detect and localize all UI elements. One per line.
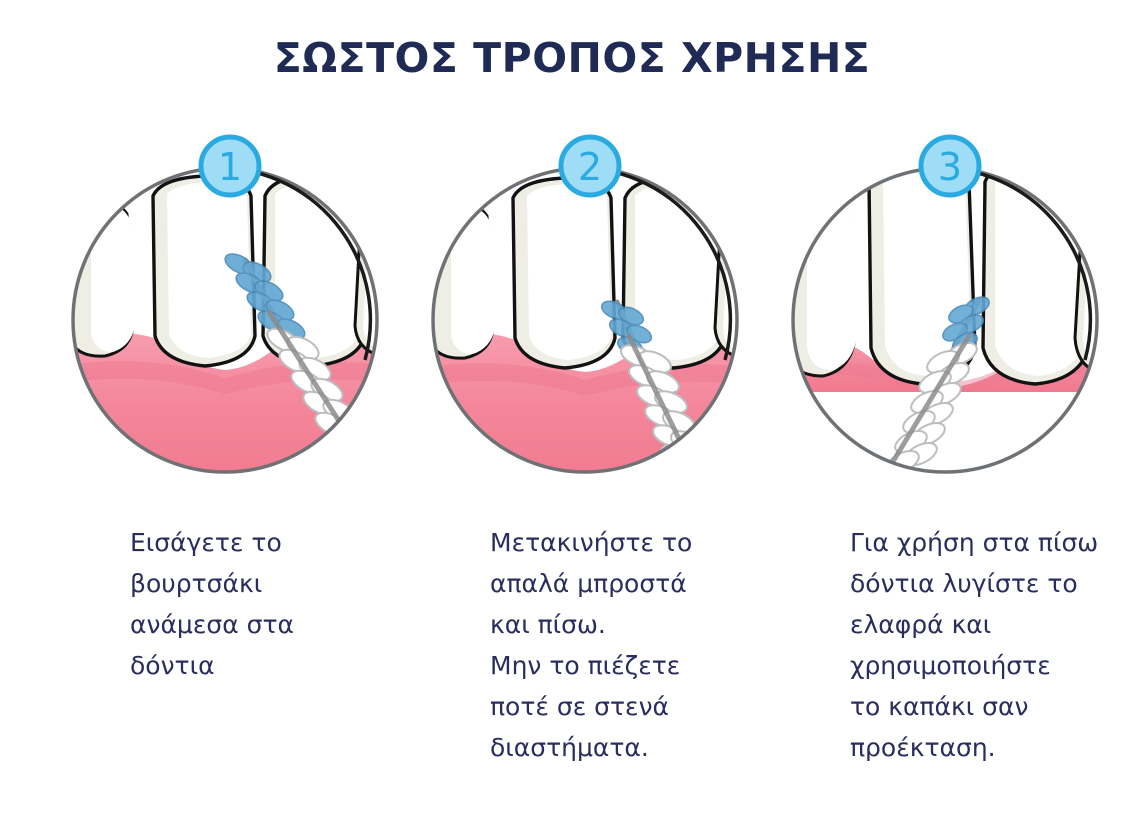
step-number-3: 3: [938, 145, 962, 189]
step-column-3: 3 Για χρήση στα πίσω δόντια λυγίστε το ε…: [780, 0, 1140, 833]
step-column-1: 1 Εισάγετε το βουρτσάκι ανάμεσα στα δόντ…: [60, 0, 420, 833]
step-caption-1: Εισάγετε το βουρτσάκι ανάμεσα στα δόντια: [130, 522, 380, 686]
step-caption-2: Μετακινήστε το απαλά μπροστά και πίσω. Μ…: [490, 522, 740, 768]
step-badge-3: 3: [917, 133, 983, 203]
step-number-1: 1: [218, 145, 242, 189]
step-number-2: 2: [578, 145, 602, 189]
infographic-page: ΣΩΣΤΟΣ ΤΡΟΠΟΣ ΧΡΗΣΗΣ: [0, 0, 1144, 833]
step-caption-3: Για χρήση στα πίσω δόντια λυγίστε το ελα…: [850, 522, 1118, 768]
step-column-2: 2 Μετακινήστε το απαλά μπροστά και πίσω.…: [420, 0, 780, 833]
step-badge-1: 1: [197, 133, 263, 203]
step-badge-2: 2: [557, 133, 623, 203]
